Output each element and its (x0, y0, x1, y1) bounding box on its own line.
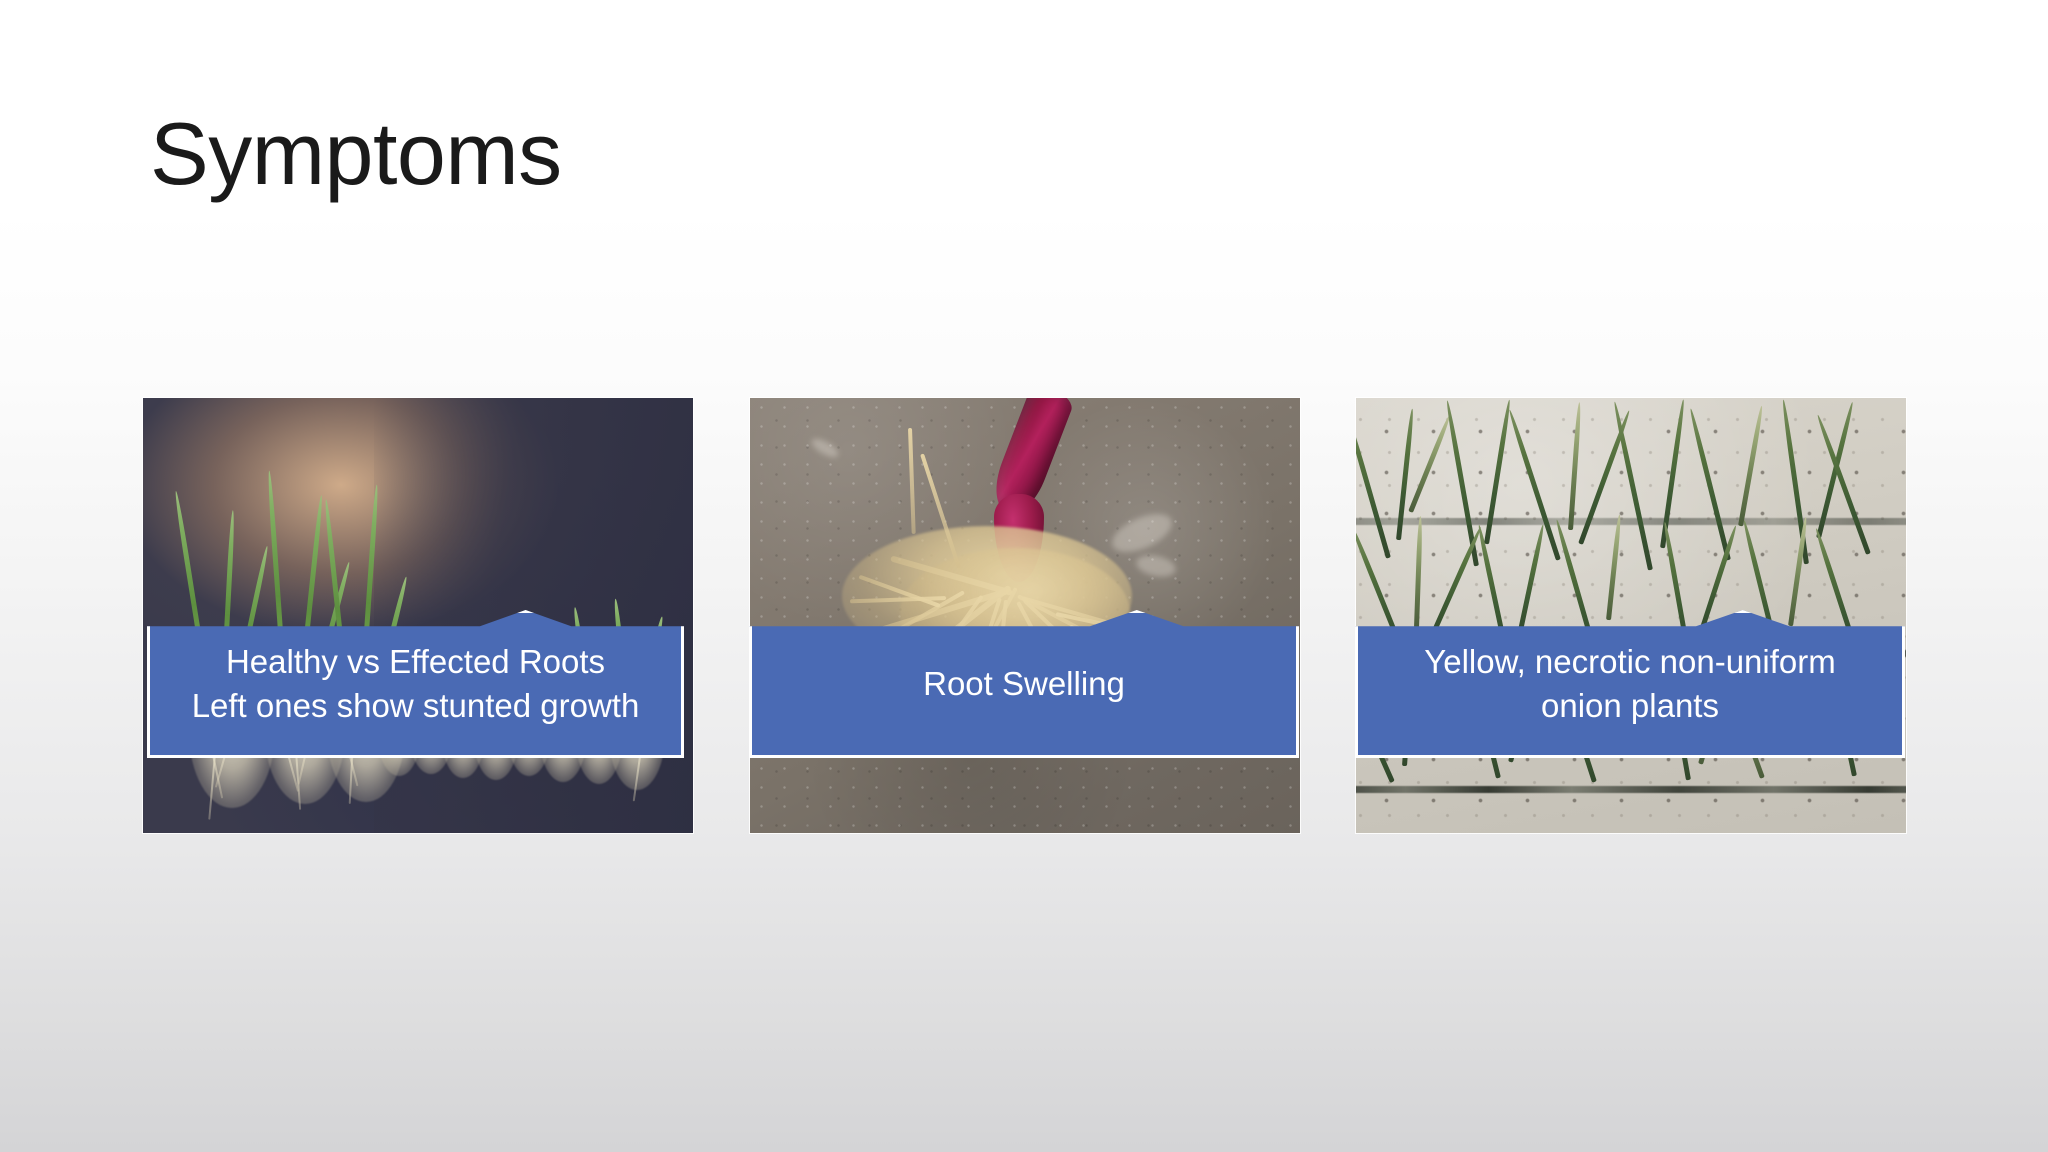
photo-onion-field-rows (1356, 398, 1906, 833)
slide: Symptoms (0, 0, 2048, 1152)
caption-yellow-necrotic-onions: Yellow, necrotic non-uniform onion plant… (1355, 610, 1905, 758)
page-title: Symptoms (150, 108, 562, 200)
caption-line-1: Yellow, necrotic non-uniform (1424, 640, 1836, 684)
photo-healthy-vs-stunted-seedlings (143, 398, 693, 833)
caption-healthy-vs-effected-roots: Healthy vs Effected Roots Left ones show… (147, 610, 684, 758)
caption-line-2: onion plants (1541, 684, 1719, 728)
caption-line-2: Left ones show stunted growth (192, 684, 640, 728)
photo-swollen-onion-roots (750, 398, 1300, 833)
caption-line-1: Root Swelling (923, 662, 1125, 706)
figure-healthy-vs-effected-roots: Healthy vs Effected Roots Left ones show… (143, 398, 693, 833)
caption-root-swelling: Root Swelling (749, 610, 1299, 758)
figure-root-swelling: Root Swelling (750, 398, 1300, 833)
figure-yellow-necrotic-onions: Yellow, necrotic non-uniform onion plant… (1356, 398, 1906, 833)
caption-line-1: Healthy vs Effected Roots (226, 640, 605, 684)
